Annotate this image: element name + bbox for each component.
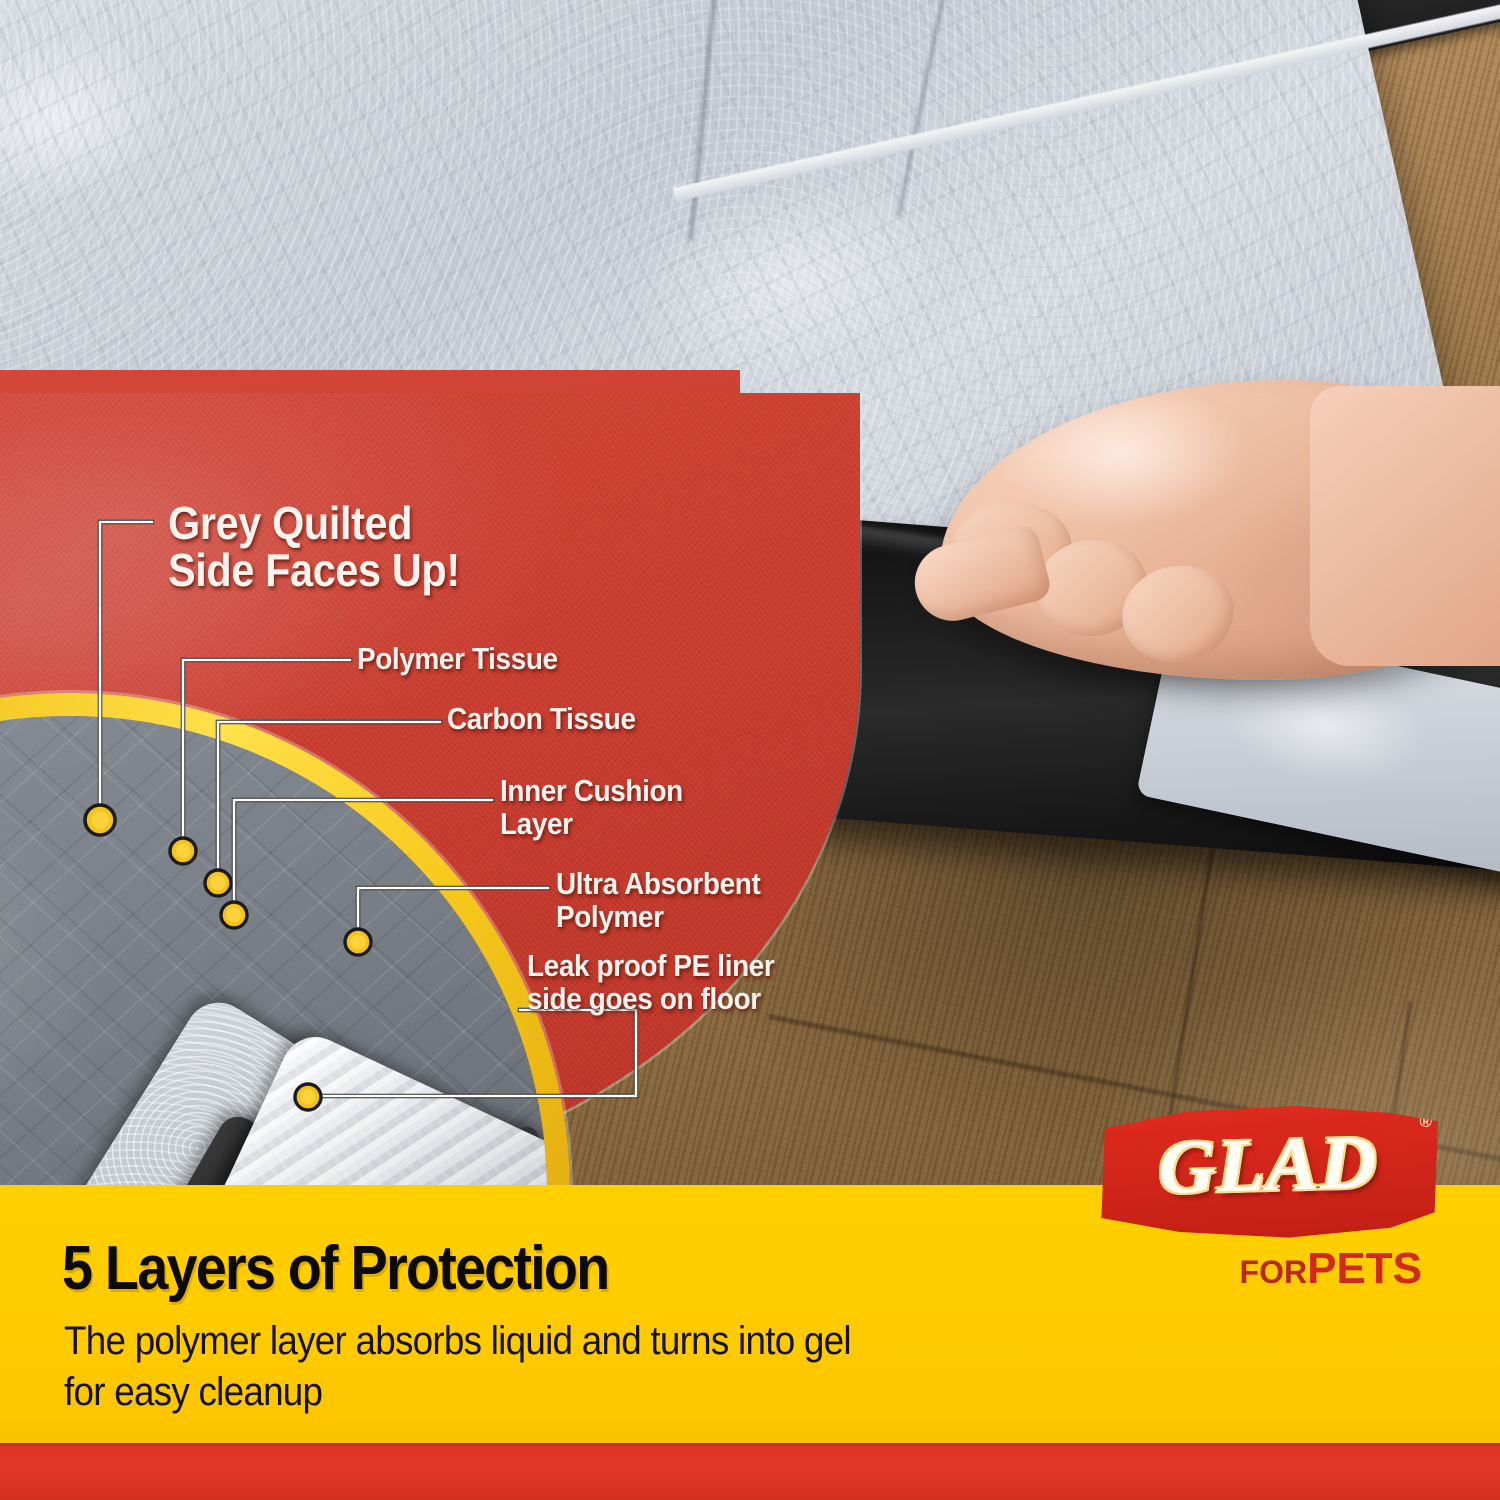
banner-headline: 5 Layers of Protection	[62, 1233, 608, 1304]
callout-label-ultra-absorbent-polymer: Ultra Absorbent Polymer	[556, 868, 760, 933]
logo-tagline: FORPETS	[1098, 1244, 1438, 1294]
callout-label-inner-cushion-layer: Inner Cushion Layer	[500, 775, 683, 840]
hand-lifting-pad	[880, 370, 1500, 730]
product-marketing-image: Grey Quilted Side Faces Up! Polymer Tiss…	[0, 0, 1500, 1500]
banner-subtext: The polymer layer absorbs liquid and tur…	[64, 1316, 864, 1418]
logo-brand-wordmark: GLAD	[1090, 1117, 1446, 1213]
logo-tagline-pets: PETS	[1307, 1244, 1422, 1293]
callout-label-leak-proof-pe-liner: Leak proof PE liner side goes on floor	[527, 950, 774, 1015]
wrist	[1310, 386, 1500, 666]
logo-tagline-for: FOR	[1240, 1254, 1308, 1290]
bottom-red-stripe	[0, 1443, 1500, 1500]
callout-label-hero: Grey Quilted Side Faces Up!	[168, 500, 460, 595]
callout-label-polymer-tissue: Polymer Tissue	[357, 643, 558, 676]
callout-label-carbon-tissue: Carbon Tissue	[447, 703, 636, 736]
glad-brand-logo: ® GLAD FORPETS	[1098, 1106, 1438, 1286]
